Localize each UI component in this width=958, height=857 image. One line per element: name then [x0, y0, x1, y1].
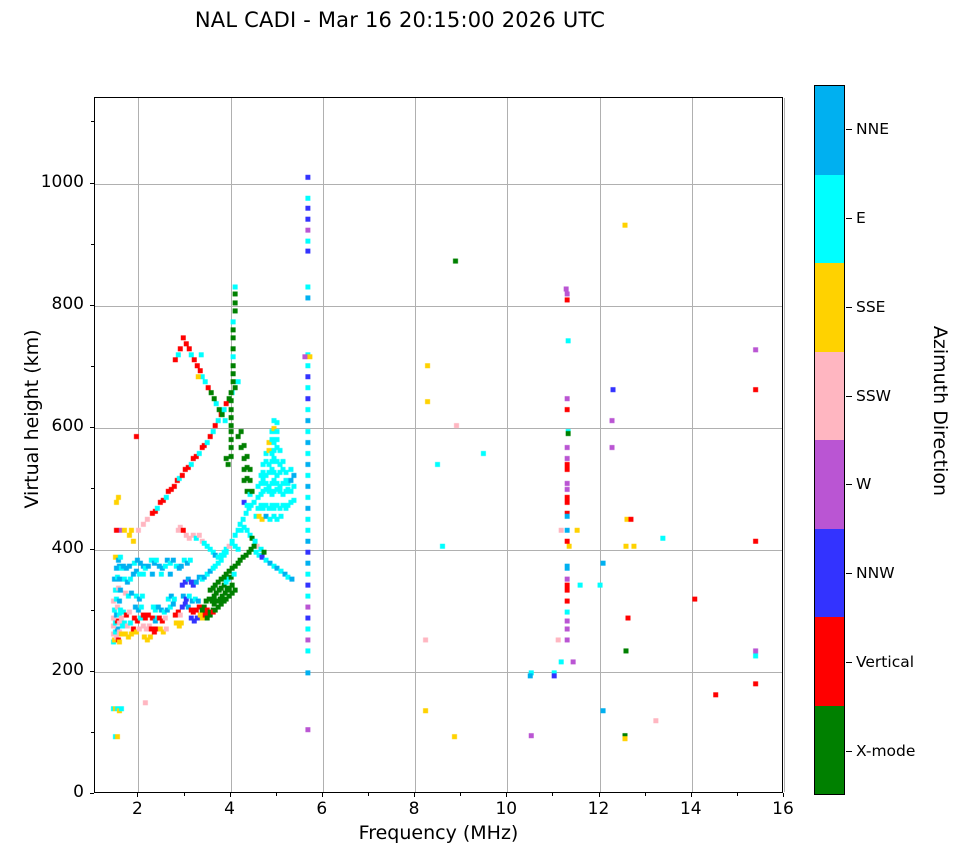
- azimuth-colorbar: [814, 85, 845, 795]
- y-tick-label: 1000: [0, 172, 84, 192]
- x-tick-label: 14: [661, 799, 721, 819]
- x-tick-label: 6: [292, 799, 352, 819]
- colorbar-segment-nnw: [815, 529, 844, 618]
- x-tick-label: 2: [107, 799, 167, 819]
- y-tick-mark: [90, 305, 94, 306]
- x-tick-mark: [599, 793, 600, 797]
- colorbar-segment-e: [815, 175, 844, 264]
- colorbar-segment-vertical: [815, 617, 844, 706]
- colorbar-tick-mark: [846, 751, 852, 752]
- y-tick-mark: [91, 732, 94, 733]
- colorbar-tick-mark: [846, 662, 852, 663]
- y-tick-mark: [90, 671, 94, 672]
- y-tick-label: 0: [0, 782, 84, 802]
- colorbar-segment-ssw: [815, 352, 844, 441]
- colorbar-segment-sse: [815, 263, 844, 352]
- x-tick-label: 10: [476, 799, 536, 819]
- colorbar-tick-mark: [846, 396, 852, 397]
- y-tick-mark: [91, 366, 94, 367]
- y-tick-mark: [91, 244, 94, 245]
- colorbar-label-nne: NNE: [856, 120, 889, 138]
- y-tick-mark: [91, 610, 94, 611]
- x-tick-mark: [460, 793, 461, 796]
- x-tick-mark: [137, 793, 138, 797]
- colorbar-segment-x-mode: [815, 706, 844, 795]
- colorbar-label-ssw: SSW: [856, 387, 891, 405]
- y-tick-mark: [90, 183, 94, 184]
- y-axis-title: Virtual height (km): [21, 269, 43, 569]
- colorbar-tick-mark: [846, 218, 852, 219]
- colorbar-label-w: W: [856, 475, 871, 493]
- colorbar-label-e: E: [856, 209, 866, 227]
- x-tick-mark: [737, 793, 738, 796]
- x-tick-mark: [322, 793, 323, 797]
- y-tick-mark: [91, 121, 94, 122]
- x-tick-mark: [230, 793, 231, 797]
- gridline-vertical: [784, 98, 785, 792]
- colorbar-tick-mark: [846, 129, 852, 130]
- page-title: NAL CADI - Mar 16 20:15:00 2026 UTC: [0, 8, 800, 32]
- colorbar-label-nnw: NNW: [856, 564, 895, 582]
- colorbar-segment-nne: [815, 86, 844, 175]
- x-tick-label: 16: [753, 799, 813, 819]
- x-tick-mark: [184, 793, 185, 796]
- colorbar-label-x-mode: X-mode: [856, 742, 915, 760]
- x-tick-mark: [645, 793, 646, 796]
- x-tick-label: 4: [200, 799, 260, 819]
- y-tick-label: 200: [0, 660, 84, 680]
- colorbar-label-sse: SSE: [856, 298, 885, 316]
- x-axis-title: Frequency (MHz): [94, 822, 783, 844]
- x-tick-mark: [783, 793, 784, 797]
- echo-scatter-layer: [95, 98, 782, 792]
- y-tick-mark: [90, 793, 94, 794]
- colorbar-title: Azimuth Direction: [929, 261, 951, 561]
- colorbar-label-vertical: Vertical: [856, 653, 914, 671]
- x-tick-mark: [552, 793, 553, 796]
- x-tick-mark: [276, 793, 277, 796]
- colorbar-tick-mark: [846, 307, 852, 308]
- x-tick-mark: [368, 793, 369, 796]
- y-tick-mark: [90, 427, 94, 428]
- colorbar-segment-w: [815, 440, 844, 529]
- x-tick-mark: [506, 793, 507, 797]
- ionogram-plot-area: [94, 97, 783, 793]
- x-tick-mark: [414, 793, 415, 797]
- colorbar-tick-mark: [846, 484, 852, 485]
- y-tick-mark: [91, 488, 94, 489]
- colorbar-tick-mark: [846, 573, 852, 574]
- x-tick-label: 12: [569, 799, 629, 819]
- x-tick-mark: [691, 793, 692, 797]
- y-tick-mark: [90, 549, 94, 550]
- x-tick-label: 8: [384, 799, 444, 819]
